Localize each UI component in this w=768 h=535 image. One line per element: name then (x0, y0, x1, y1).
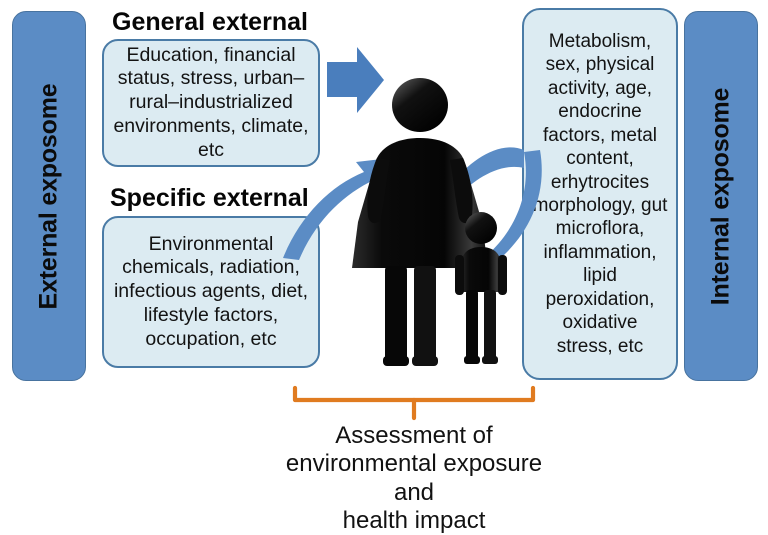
diagram-canvas: External exposome Internal exposome Gene… (0, 0, 768, 512)
specific-external-box: Environmental chemicals, radiation, infe… (102, 216, 320, 368)
specific-external-box-text: Environmental chemicals, radiation, infe… (112, 233, 310, 352)
general-external-heading: General external (112, 8, 308, 37)
general-external-box: Education, financial status, stress, urb… (102, 39, 320, 167)
assessment-caption: Assessment of environmental exposure and… (264, 422, 564, 535)
external-exposome-bar: External exposome (12, 11, 86, 381)
assessment-bracket (295, 388, 533, 418)
internal-exposome-bar: Internal exposome (684, 11, 758, 381)
external-exposome-bar-label: External exposome (35, 83, 64, 309)
adult-woman-figure (352, 78, 488, 366)
general-external-to-body-arrow (327, 47, 384, 113)
internal-exposome-box-text: Metabolism, sex, physical activity, age,… (532, 30, 668, 358)
internal-exposome-bar-label: Internal exposome (707, 87, 736, 305)
assessment-caption-line-1: Assessment of (264, 422, 564, 450)
specific-external-heading: Specific external (110, 184, 309, 213)
child-figure (455, 212, 507, 364)
general-external-box-text: Education, financial status, stress, urb… (112, 44, 310, 163)
assessment-caption-line-2: environmental exposure and (264, 450, 564, 507)
internal-to-adult-arrow (424, 147, 524, 214)
assessment-caption-line-3: health impact (264, 507, 564, 535)
internal-exposome-box: Metabolism, sex, physical activity, age,… (522, 8, 678, 380)
